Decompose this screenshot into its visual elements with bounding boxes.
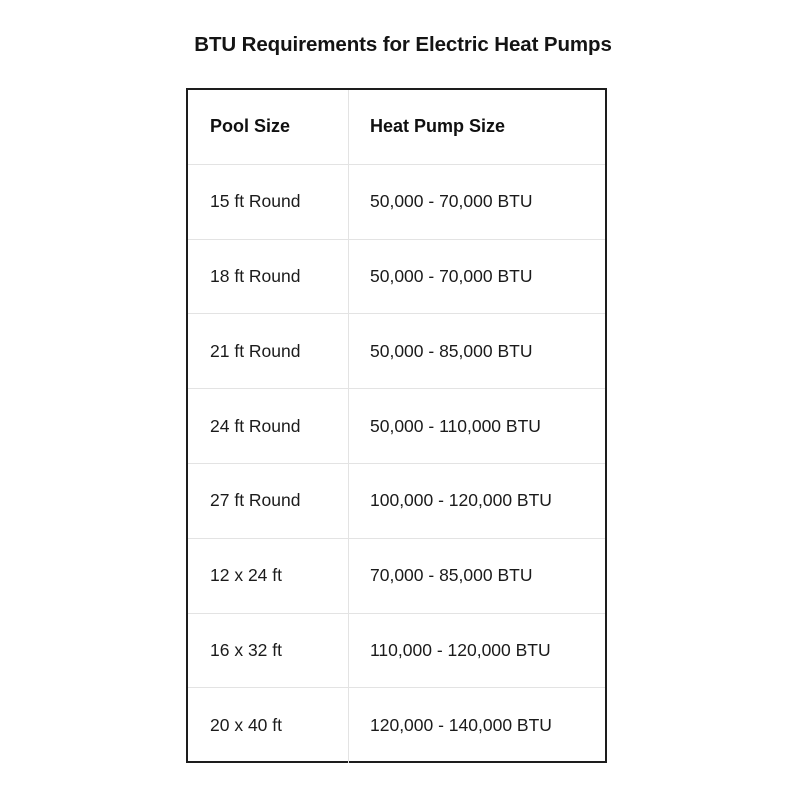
cell-heat-pump-size: 100,000 - 120,000 BTU	[349, 464, 605, 538]
cell-pool-size: 15 ft Round	[188, 165, 349, 239]
table-row: 21 ft Round 50,000 - 85,000 BTU	[188, 314, 605, 389]
cell-heat-pump-size: 50,000 - 70,000 BTU	[349, 165, 605, 239]
cell-heat-pump-size: 120,000 - 140,000 BTU	[349, 688, 605, 763]
column-header-heat-pump-size: Heat Pump Size	[349, 90, 605, 164]
column-header-pool-size: Pool Size	[188, 90, 349, 164]
table-row: 27 ft Round 100,000 - 120,000 BTU	[188, 464, 605, 539]
table-row: 12 x 24 ft 70,000 - 85,000 BTU	[188, 539, 605, 614]
table-row: 16 x 32 ft 110,000 - 120,000 BTU	[188, 614, 605, 689]
cell-pool-size: 21 ft Round	[188, 314, 349, 388]
cell-pool-size: 20 x 40 ft	[188, 688, 349, 763]
document-page: BTU Requirements for Electric Heat Pumps…	[0, 0, 800, 800]
cell-heat-pump-size: 50,000 - 110,000 BTU	[349, 389, 605, 463]
cell-pool-size: 18 ft Round	[188, 240, 349, 314]
page-title: BTU Requirements for Electric Heat Pumps	[178, 33, 628, 57]
btu-requirements-table: Pool Size Heat Pump Size 15 ft Round 50,…	[186, 88, 607, 763]
table-row: 20 x 40 ft 120,000 - 140,000 BTU	[188, 688, 605, 763]
cell-heat-pump-size: 110,000 - 120,000 BTU	[349, 614, 605, 688]
cell-heat-pump-size: 50,000 - 70,000 BTU	[349, 240, 605, 314]
cell-pool-size: 24 ft Round	[188, 389, 349, 463]
table-row: 18 ft Round 50,000 - 70,000 BTU	[188, 240, 605, 315]
cell-pool-size: 16 x 32 ft	[188, 614, 349, 688]
table-row: 24 ft Round 50,000 - 110,000 BTU	[188, 389, 605, 464]
cell-pool-size: 27 ft Round	[188, 464, 349, 538]
cell-heat-pump-size: 70,000 - 85,000 BTU	[349, 539, 605, 613]
table-header-row: Pool Size Heat Pump Size	[188, 90, 605, 165]
cell-pool-size: 12 x 24 ft	[188, 539, 349, 613]
table-row: 15 ft Round 50,000 - 70,000 BTU	[188, 165, 605, 240]
cell-heat-pump-size: 50,000 - 85,000 BTU	[349, 314, 605, 388]
